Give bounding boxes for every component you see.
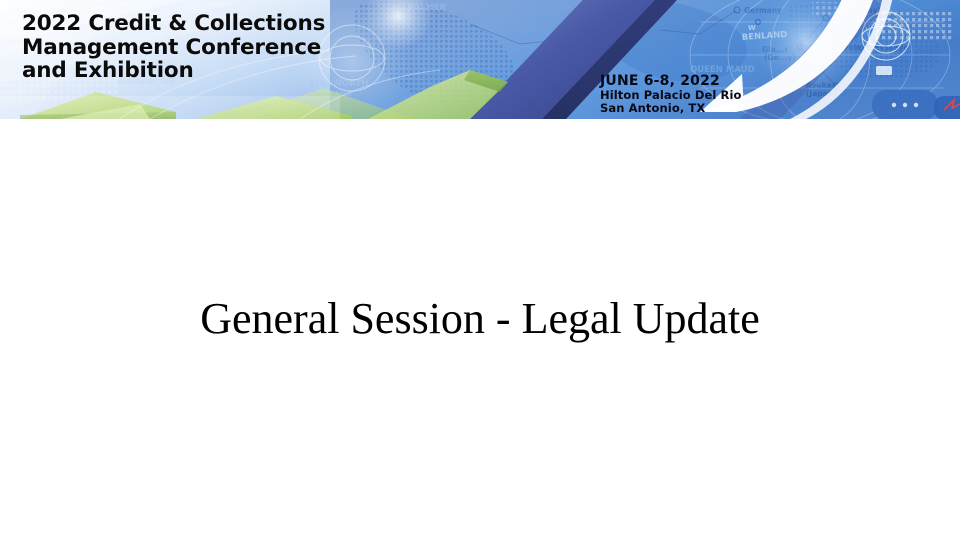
conference-header-banner: Germany (Germany) Gla...r (Ge...y) Novol… (0, 0, 960, 119)
slide-body: General Session - Legal Update (0, 119, 960, 540)
conference-city: San Antonio, TX (600, 102, 742, 115)
conference-details: JUNE 6-8, 2022 Hilton Palacio Del Rio Sa… (600, 74, 742, 115)
conference-banner-title: 2022 Credit & Collections Management Con… (22, 12, 325, 83)
slide-title: General Session - Legal Update (0, 119, 960, 345)
presentation-slide: Germany (Germany) Gla...r (Ge...y) Novol… (0, 0, 960, 540)
svg-text:W: W (748, 24, 756, 32)
conference-date: JUNE 6-8, 2022 (600, 74, 742, 89)
